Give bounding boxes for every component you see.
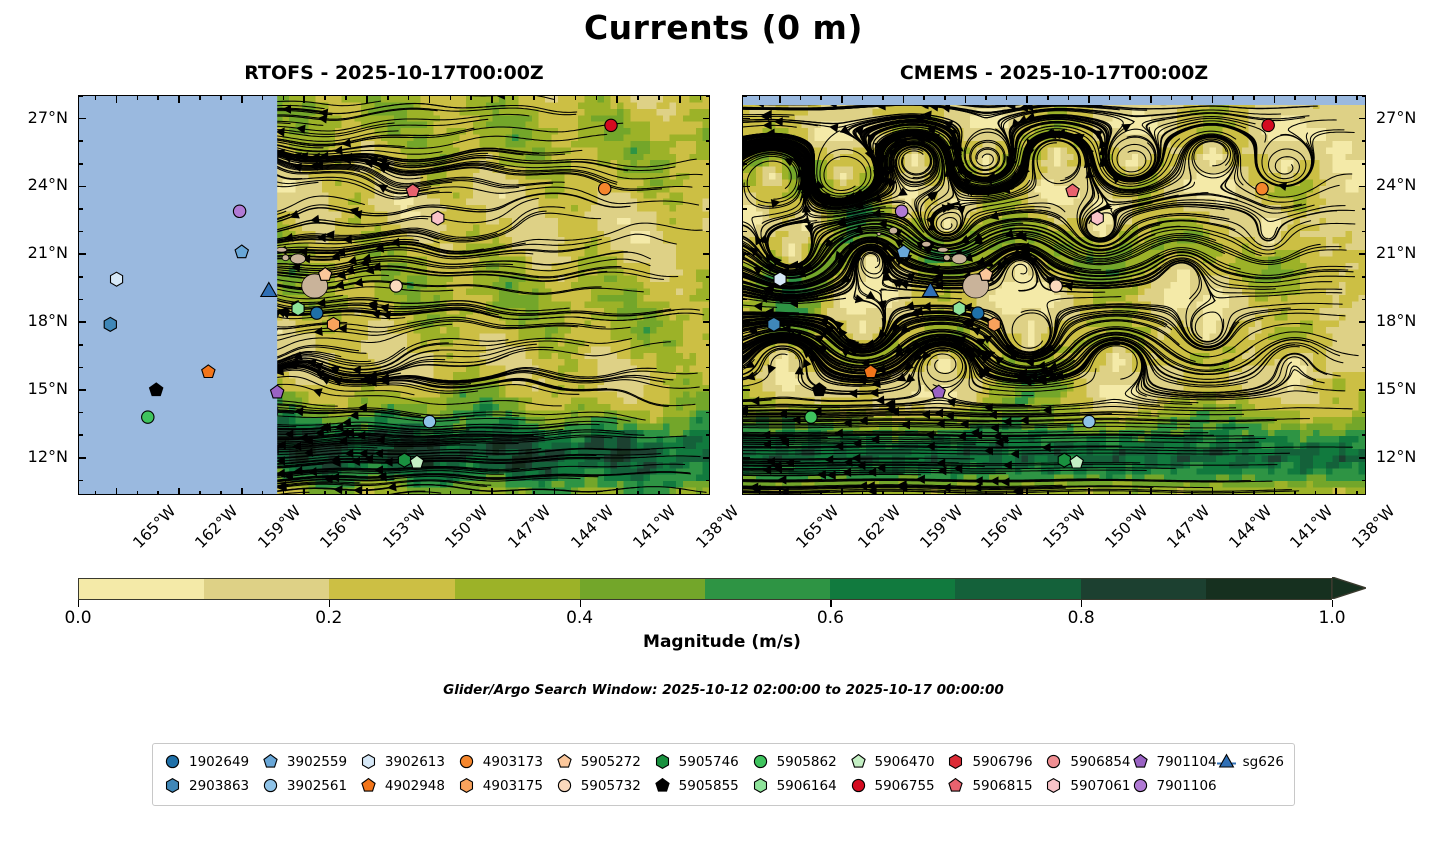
marker-7901106[interactable] bbox=[895, 205, 907, 217]
y-tick bbox=[703, 253, 710, 255]
x-minor-tick bbox=[1109, 491, 1111, 495]
legend-label: 7901106 bbox=[1157, 778, 1217, 794]
legend-item-4902948[interactable]: 4902948 bbox=[359, 775, 457, 796]
y-minor-tick bbox=[743, 344, 747, 346]
x-minor-tick bbox=[1006, 96, 1008, 100]
legend-marker-circle-icon bbox=[163, 752, 182, 771]
x-tick bbox=[1026, 488, 1028, 495]
y-minor-tick bbox=[706, 208, 710, 210]
marker-2903863[interactable] bbox=[768, 317, 780, 331]
x-tick bbox=[1274, 96, 1276, 103]
legend-marker-hexagon-icon bbox=[163, 776, 182, 795]
legend-label: 4903173 bbox=[483, 754, 543, 770]
legend-marker-hexagon-icon bbox=[946, 752, 965, 771]
x-minor-tick bbox=[759, 96, 761, 100]
x-minor-tick bbox=[387, 96, 389, 100]
legend-item-5905855[interactable]: 5905855 bbox=[653, 775, 751, 796]
x-tick bbox=[1088, 96, 1090, 103]
y-minor-tick bbox=[79, 276, 83, 278]
x-minor-tick bbox=[512, 491, 514, 495]
platform-markers[interactable] bbox=[743, 96, 1365, 494]
panel-title-cmems: CMEMS - 2025-10-17T00:00Z bbox=[742, 62, 1366, 84]
x-tick bbox=[241, 488, 243, 495]
y-tick bbox=[79, 118, 86, 120]
x-minor-tick bbox=[157, 491, 159, 495]
x-minor-tick bbox=[882, 96, 884, 100]
y-tick bbox=[703, 186, 710, 188]
legend-marker-circle-icon bbox=[849, 776, 868, 795]
legend-grid: 1902649290386339025593902561390261349029… bbox=[163, 751, 1284, 796]
marker-3902559[interactable] bbox=[897, 245, 910, 258]
legend-item-2903863[interactable]: 2903863 bbox=[163, 775, 261, 796]
x-minor-tick bbox=[1068, 491, 1070, 495]
colorbar-tick-label: 0.6 bbox=[817, 608, 844, 628]
legend-label: 4903175 bbox=[483, 778, 543, 794]
x-minor-tick bbox=[199, 491, 201, 495]
legend-item-5906854[interactable]: 5906854 bbox=[1044, 751, 1130, 772]
x-minor-tick bbox=[387, 491, 389, 495]
x-tick-label: 150°W bbox=[442, 502, 492, 552]
x-tick bbox=[679, 96, 681, 103]
legend-label: 5906796 bbox=[972, 754, 1032, 770]
marker-1902649[interactable] bbox=[972, 307, 984, 319]
platform-markers[interactable] bbox=[79, 96, 709, 494]
legend-item-5906470[interactable]: 5906470 bbox=[849, 751, 947, 772]
x-tick bbox=[903, 488, 905, 495]
legend-item-5906815[interactable]: 5906815 bbox=[946, 775, 1044, 796]
y-tick-label: 12°N bbox=[2, 447, 68, 466]
map-panel-cmems[interactable] bbox=[742, 95, 1366, 495]
legend-marker-hexagon-icon bbox=[653, 752, 672, 771]
legend-marker-hexagon-icon bbox=[751, 776, 770, 795]
x-tick-label: 144°W bbox=[567, 502, 617, 552]
marker-1902649[interactable] bbox=[311, 307, 323, 319]
y-tick bbox=[79, 186, 86, 188]
legend-label: 5906164 bbox=[777, 778, 837, 794]
x-minor-tick bbox=[637, 491, 639, 495]
y-minor-tick bbox=[743, 231, 747, 233]
y-tick bbox=[743, 321, 750, 323]
x-tick-label: 162°W bbox=[192, 502, 242, 552]
x-minor-tick bbox=[533, 96, 535, 100]
legend-item-5905272[interactable]: 5905272 bbox=[555, 751, 653, 772]
x-minor-tick bbox=[944, 491, 946, 495]
marker-sg626 bbox=[922, 283, 938, 297]
y-tick bbox=[1359, 118, 1366, 120]
colorbar: 0.00.20.40.60.81.0 bbox=[78, 578, 1366, 600]
colorbar-tick bbox=[1332, 600, 1333, 607]
legend-label: sg626 bbox=[1243, 754, 1284, 770]
colorbar-segment bbox=[455, 579, 580, 599]
x-minor-tick bbox=[575, 96, 577, 100]
colorbar-tick bbox=[78, 600, 79, 607]
x-minor-tick bbox=[1232, 491, 1234, 495]
x-minor-tick bbox=[1253, 491, 1255, 495]
x-minor-tick bbox=[1109, 96, 1111, 100]
legend-marker-pentagon-icon bbox=[359, 776, 378, 795]
colorbar-segment bbox=[580, 579, 705, 599]
legend-item-3902561[interactable]: 3902561 bbox=[261, 775, 359, 796]
y-tick bbox=[1359, 321, 1366, 323]
x-tick-label: 159°W bbox=[916, 502, 966, 552]
y-tick-label: 27°N bbox=[2, 108, 68, 127]
x-minor-tick bbox=[1356, 96, 1358, 100]
x-tick-label: 165°W bbox=[129, 502, 179, 552]
y-tick-label: 18°N bbox=[1376, 311, 1416, 330]
marker-5906815[interactable] bbox=[1066, 184, 1079, 197]
y-minor-tick bbox=[79, 367, 83, 369]
y-minor-tick bbox=[79, 140, 83, 142]
x-tick bbox=[1335, 488, 1337, 495]
y-minor-tick bbox=[743, 95, 747, 97]
y-minor-tick bbox=[79, 299, 83, 301]
y-tick bbox=[79, 389, 86, 391]
colorbar-segment bbox=[705, 579, 830, 599]
legend-label: 5905862 bbox=[777, 754, 837, 770]
x-minor-tick bbox=[450, 491, 452, 495]
x-minor-tick bbox=[262, 96, 264, 100]
legend-label: 5905272 bbox=[581, 754, 641, 770]
x-minor-tick bbox=[95, 96, 97, 100]
x-minor-tick bbox=[1232, 96, 1234, 100]
y-minor-tick bbox=[79, 412, 83, 414]
x-minor-tick bbox=[95, 491, 97, 495]
marker-7901104[interactable] bbox=[271, 385, 284, 398]
legend-marker-pentagon-icon bbox=[653, 776, 672, 795]
y-minor-tick bbox=[1362, 95, 1366, 97]
legend-item-4903175[interactable]: 4903175 bbox=[457, 775, 555, 796]
x-tick-label: 147°W bbox=[1163, 502, 1213, 552]
legend-label: 4902948 bbox=[385, 778, 445, 794]
y-tick bbox=[79, 253, 86, 255]
y-minor-tick bbox=[706, 163, 710, 165]
marker-5907061[interactable] bbox=[432, 211, 444, 225]
x-minor-tick bbox=[1068, 96, 1070, 100]
legend-marker-circle-icon bbox=[261, 776, 280, 795]
x-tick-label: 138°W bbox=[692, 502, 742, 552]
marker-4903173[interactable] bbox=[1256, 183, 1268, 195]
y-minor-tick bbox=[706, 367, 710, 369]
x-minor-tick bbox=[1171, 491, 1173, 495]
x-minor-tick bbox=[1191, 491, 1193, 495]
y-tick bbox=[1359, 389, 1366, 391]
x-minor-tick bbox=[137, 491, 139, 495]
x-tick-label: 153°W bbox=[1040, 502, 1090, 552]
x-minor-tick bbox=[596, 491, 598, 495]
legend-item-1902649[interactable]: 1902649 bbox=[163, 751, 261, 772]
x-minor-tick bbox=[408, 491, 410, 495]
x-tick bbox=[491, 96, 493, 103]
marker-5905862[interactable] bbox=[805, 411, 817, 423]
legend-item-5905862[interactable]: 5905862 bbox=[751, 751, 849, 772]
colorbar-segment bbox=[1206, 579, 1331, 599]
x-tick bbox=[366, 96, 368, 103]
x-minor-tick bbox=[220, 491, 222, 495]
x-minor-tick bbox=[1047, 491, 1049, 495]
colorbar-extend-arrow bbox=[1332, 577, 1366, 599]
marker-3902561[interactable] bbox=[1083, 415, 1095, 427]
y-minor-tick bbox=[706, 95, 710, 97]
x-tick bbox=[554, 488, 556, 495]
x-minor-tick bbox=[862, 96, 864, 100]
marker-5905855[interactable] bbox=[813, 383, 826, 396]
x-tick bbox=[965, 488, 967, 495]
y-minor-tick bbox=[743, 140, 747, 142]
y-tick bbox=[703, 389, 710, 391]
y-minor-tick bbox=[79, 344, 83, 346]
x-tick bbox=[429, 488, 431, 495]
y-minor-tick bbox=[1362, 231, 1366, 233]
y-minor-tick bbox=[706, 299, 710, 301]
marker-4902948[interactable] bbox=[864, 365, 877, 378]
colorbar-tick-label: 0.4 bbox=[566, 608, 593, 628]
marker-3902613[interactable] bbox=[774, 272, 786, 286]
x-minor-tick bbox=[637, 96, 639, 100]
legend-marker-circle-icon bbox=[457, 752, 476, 771]
marker-sg626 bbox=[261, 283, 277, 297]
y-minor-tick bbox=[79, 163, 83, 165]
y-minor-tick bbox=[706, 344, 710, 346]
x-tick bbox=[116, 96, 118, 103]
x-minor-tick bbox=[1315, 96, 1317, 100]
y-minor-tick bbox=[706, 276, 710, 278]
colorbar-tick-label: 0.8 bbox=[1068, 608, 1095, 628]
y-minor-tick bbox=[706, 434, 710, 436]
y-tick bbox=[743, 457, 750, 459]
x-minor-tick bbox=[862, 491, 864, 495]
y-minor-tick bbox=[1362, 163, 1366, 165]
marker-5906470[interactable] bbox=[410, 455, 423, 468]
marker-5905855[interactable] bbox=[150, 383, 163, 396]
marker-5905732[interactable] bbox=[390, 280, 402, 292]
legend-item-5905732[interactable]: 5905732 bbox=[555, 775, 653, 796]
y-minor-tick bbox=[79, 434, 83, 436]
y-minor-tick bbox=[743, 276, 747, 278]
x-tick bbox=[1212, 96, 1214, 103]
x-minor-tick bbox=[1315, 491, 1317, 495]
legend-item-5905746[interactable]: 5905746 bbox=[653, 751, 751, 772]
legend-item-5906164[interactable]: 5906164 bbox=[751, 775, 849, 796]
colorbar-segment bbox=[204, 579, 329, 599]
x-tick bbox=[491, 488, 493, 495]
y-tick bbox=[79, 457, 86, 459]
legend-item-3902613[interactable]: 3902613 bbox=[359, 751, 457, 772]
marker-7901106[interactable] bbox=[233, 205, 245, 217]
x-minor-tick bbox=[575, 491, 577, 495]
x-tick-label: 144°W bbox=[1225, 502, 1275, 552]
marker-4903173[interactable] bbox=[599, 183, 611, 195]
legend-item-5906796[interactable]: 5906796 bbox=[946, 751, 1044, 772]
colorbar-segment bbox=[830, 579, 955, 599]
marker-2903863[interactable] bbox=[104, 317, 116, 331]
marker-5906755[interactable] bbox=[605, 119, 617, 131]
marker-5906164[interactable] bbox=[292, 302, 304, 316]
marker-5906755[interactable] bbox=[1262, 119, 1274, 131]
x-minor-tick bbox=[408, 96, 410, 100]
y-tick-label: 15°N bbox=[1376, 379, 1416, 398]
x-minor-tick bbox=[324, 96, 326, 100]
colorbar-segment bbox=[329, 579, 454, 599]
x-tick-label: 156°W bbox=[317, 502, 367, 552]
y-minor-tick bbox=[1362, 299, 1366, 301]
y-minor-tick bbox=[706, 140, 710, 142]
marker-4903175[interactable] bbox=[327, 317, 339, 331]
legend-item-5907061[interactable]: 5907061 bbox=[1044, 775, 1130, 796]
legend-item-sg626[interactable]: sg626 bbox=[1217, 751, 1284, 772]
marker-4902948[interactable] bbox=[202, 365, 215, 378]
y-minor-tick bbox=[1362, 140, 1366, 142]
x-tick bbox=[841, 488, 843, 495]
legend-label: 3902561 bbox=[287, 778, 347, 794]
x-tick bbox=[1335, 96, 1337, 103]
legend-marker-hexagon-icon bbox=[359, 752, 378, 771]
legend-marker-hexagon-icon bbox=[1044, 776, 1063, 795]
marker-5906164[interactable] bbox=[953, 302, 965, 316]
x-minor-tick bbox=[345, 491, 347, 495]
legend-label: 2903863 bbox=[189, 778, 249, 794]
x-minor-tick bbox=[470, 491, 472, 495]
x-tick bbox=[1026, 96, 1028, 103]
legend-label: 3902559 bbox=[287, 754, 347, 770]
x-minor-tick bbox=[820, 491, 822, 495]
x-minor-tick bbox=[283, 491, 285, 495]
x-minor-tick bbox=[324, 491, 326, 495]
legend-marker-hexagon-icon bbox=[457, 776, 476, 795]
legend-item-7901106[interactable]: 7901106 bbox=[1131, 775, 1217, 796]
y-minor-tick bbox=[743, 412, 747, 414]
legend-marker-circle-icon bbox=[751, 752, 770, 771]
y-tick-label: 12°N bbox=[1376, 447, 1416, 466]
legend-label: 5905855 bbox=[679, 778, 739, 794]
y-tick bbox=[703, 118, 710, 120]
x-minor-tick bbox=[820, 96, 822, 100]
y-tick bbox=[1359, 186, 1366, 188]
x-tick-label: 147°W bbox=[504, 502, 554, 552]
x-tick bbox=[616, 488, 618, 495]
panel-title-rtofs: RTOFS - 2025-10-17T00:00Z bbox=[78, 62, 710, 84]
legend-marker-circle-icon bbox=[1131, 776, 1150, 795]
x-tick-label: 141°W bbox=[1287, 502, 1337, 552]
search-window-caption: Glider/Argo Search Window: 2025-10-12 02… bbox=[0, 682, 1447, 698]
y-tick bbox=[79, 321, 86, 323]
colorbar-tick bbox=[580, 600, 581, 607]
legend-item-4903173[interactable]: 4903173 bbox=[457, 751, 555, 772]
x-minor-tick bbox=[923, 96, 925, 100]
x-tick bbox=[841, 96, 843, 103]
y-tick bbox=[743, 118, 750, 120]
x-minor-tick bbox=[283, 96, 285, 100]
x-minor-tick bbox=[1356, 491, 1358, 495]
legend-marker-pentagon-icon bbox=[849, 752, 868, 771]
legend-item-5906755[interactable]: 5906755 bbox=[849, 775, 947, 796]
y-minor-tick bbox=[706, 480, 710, 482]
colorbar-tick-label: 0.2 bbox=[315, 608, 342, 628]
map-panel-rtofs[interactable] bbox=[78, 95, 710, 495]
y-minor-tick bbox=[1362, 412, 1366, 414]
y-minor-tick bbox=[743, 208, 747, 210]
marker-3902561[interactable] bbox=[423, 415, 435, 427]
marker-5907061[interactable] bbox=[1091, 211, 1103, 225]
marker-3902613[interactable] bbox=[111, 272, 123, 286]
marker-5905746[interactable] bbox=[1058, 453, 1070, 467]
marker-5905746[interactable] bbox=[398, 453, 410, 467]
marker-5906470[interactable] bbox=[1070, 455, 1083, 468]
x-tick bbox=[554, 96, 556, 103]
y-minor-tick bbox=[743, 163, 747, 165]
legend-label: 5905746 bbox=[679, 754, 739, 770]
y-minor-tick bbox=[743, 299, 747, 301]
colorbar-gradient bbox=[78, 578, 1332, 600]
marker-5906815[interactable] bbox=[406, 184, 419, 197]
x-minor-tick bbox=[985, 96, 987, 100]
legend-item-3902559[interactable]: 3902559 bbox=[261, 751, 359, 772]
colorbar-tick bbox=[1081, 600, 1082, 607]
colorbar-tick-label: 0.0 bbox=[64, 608, 91, 628]
marker-5905272[interactable] bbox=[979, 268, 992, 281]
colorbar-segment bbox=[955, 579, 1080, 599]
y-tick-label: 21°N bbox=[1376, 243, 1416, 262]
marker-7901104[interactable] bbox=[932, 385, 945, 398]
x-tick bbox=[903, 96, 905, 103]
legend-label: 5906854 bbox=[1070, 754, 1130, 770]
x-minor-tick bbox=[1294, 96, 1296, 100]
y-tick-label: 15°N bbox=[2, 379, 68, 398]
y-tick-label: 24°N bbox=[2, 175, 68, 194]
y-tick bbox=[743, 389, 750, 391]
legend-label: 5906815 bbox=[972, 778, 1032, 794]
y-tick bbox=[1359, 253, 1366, 255]
y-minor-tick bbox=[743, 480, 747, 482]
x-minor-tick bbox=[1129, 96, 1131, 100]
x-minor-tick bbox=[1129, 491, 1131, 495]
x-minor-tick bbox=[199, 96, 201, 100]
marker-4903175[interactable] bbox=[988, 317, 1000, 331]
figure-title: Currents (0 m) bbox=[0, 8, 1447, 47]
legend-label: 5906470 bbox=[875, 754, 935, 770]
y-tick-label: 27°N bbox=[1376, 108, 1416, 127]
x-tick bbox=[616, 96, 618, 103]
x-tick-label: 159°W bbox=[254, 502, 304, 552]
legend-label: 5905732 bbox=[581, 778, 641, 794]
x-tick bbox=[303, 488, 305, 495]
y-minor-tick bbox=[79, 95, 83, 97]
legend-label: 5907061 bbox=[1070, 778, 1130, 794]
marker-5905732[interactable] bbox=[1050, 280, 1062, 292]
x-minor-tick bbox=[800, 491, 802, 495]
legend-item-7901104[interactable]: 7901104 bbox=[1131, 751, 1217, 772]
y-tick bbox=[743, 253, 750, 255]
x-tick bbox=[965, 96, 967, 103]
marker-5905862[interactable] bbox=[142, 411, 154, 423]
marker-3902559[interactable] bbox=[235, 245, 248, 258]
marker-5905272[interactable] bbox=[319, 268, 332, 281]
y-minor-tick bbox=[1362, 276, 1366, 278]
x-tick bbox=[779, 488, 781, 495]
x-tick bbox=[1150, 488, 1152, 495]
y-minor-tick bbox=[706, 412, 710, 414]
y-minor-tick bbox=[79, 231, 83, 233]
x-minor-tick bbox=[700, 96, 702, 100]
y-tick bbox=[703, 457, 710, 459]
y-minor-tick bbox=[79, 480, 83, 482]
legend-marker-pentagon-icon bbox=[261, 752, 280, 771]
colorbar-segment bbox=[1081, 579, 1206, 599]
float-legend: 1902649290386339025593902561390261349029… bbox=[152, 743, 1295, 806]
x-minor-tick bbox=[1047, 96, 1049, 100]
x-tick bbox=[178, 96, 180, 103]
colorbar-segment bbox=[79, 579, 204, 599]
y-minor-tick bbox=[1362, 208, 1366, 210]
